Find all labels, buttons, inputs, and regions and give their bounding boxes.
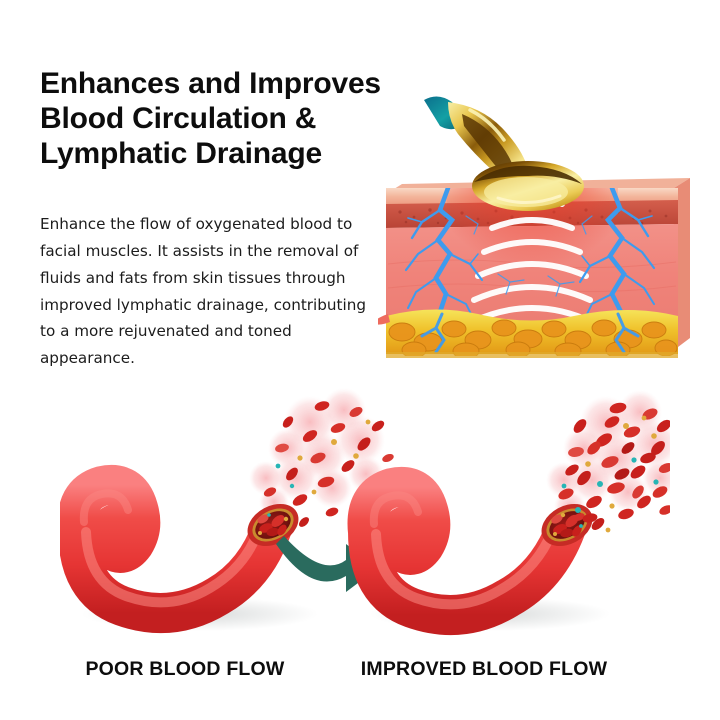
- vessel-tube-left: [78, 485, 273, 613]
- improved-blood-flow-vessel: [368, 390, 671, 631]
- poor-blood-flow-vessel: [78, 388, 395, 631]
- skin-cross-section-illustration: [378, 88, 708, 373]
- body-paragraph: Enhance the flow of oxygenated blood to …: [40, 211, 385, 372]
- caption-improved-blood-flow: IMPROVED BLOOD FLOW: [338, 658, 630, 681]
- caption-poor-blood-flow: POOR BLOOD FLOW: [70, 658, 300, 681]
- blood-flow-comparison-illustration: [60, 382, 670, 650]
- infographic-page: Enhances and Improves Blood Circulation …: [0, 0, 720, 720]
